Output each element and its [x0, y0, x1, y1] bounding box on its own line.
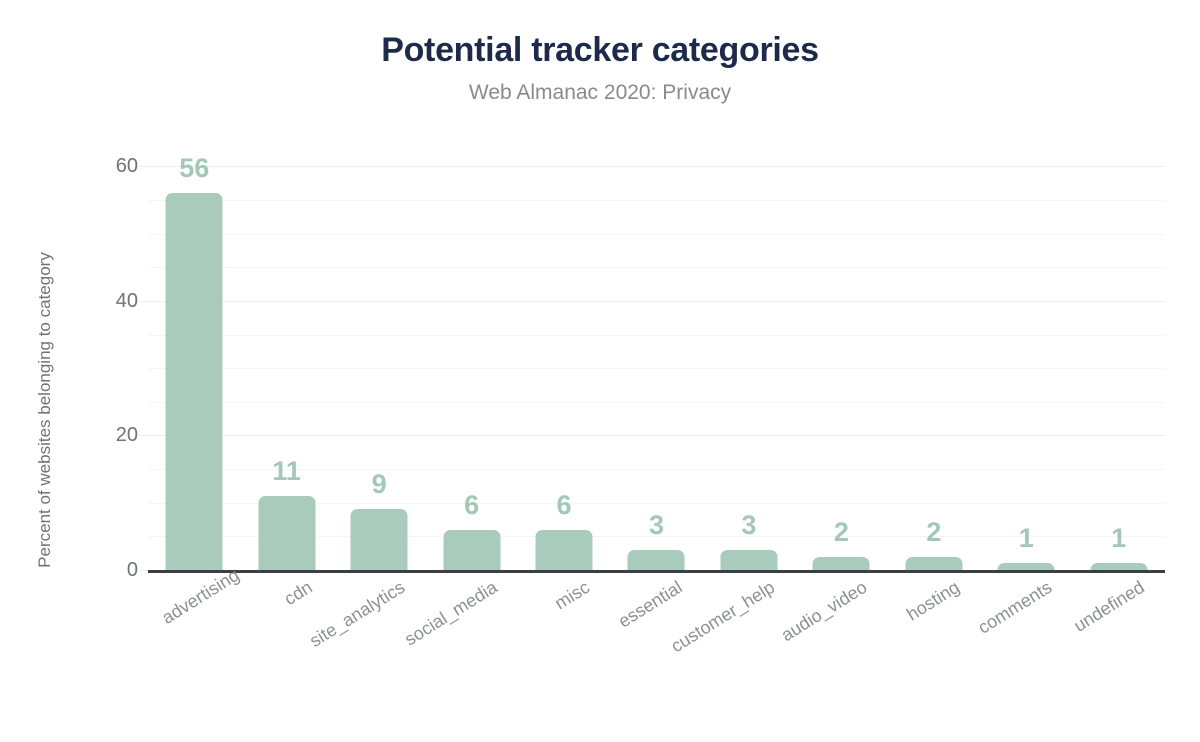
x-axis-line: [148, 570, 1165, 573]
y-axis-tick-label: 60: [78, 156, 138, 176]
y-axis-title: Percent of websites belonging to categor…: [30, 180, 60, 640]
y-axis-tick-mark: [138, 166, 148, 167]
bar-slot: 9: [333, 153, 425, 570]
bar-value-label: 9: [372, 469, 387, 499]
bar-value-label: 3: [649, 510, 664, 540]
bar[interactable]: [443, 530, 500, 570]
bar[interactable]: [1090, 563, 1147, 570]
bar[interactable]: [258, 496, 315, 570]
bar-slot: 2: [795, 153, 887, 570]
bar-slot: 6: [425, 153, 517, 570]
bar-value-label: 6: [557, 490, 572, 520]
x-axis-tick-label: customer_help: [242, 576, 779, 742]
bar-value-label: 56: [179, 153, 209, 183]
bar-slot: 1: [980, 153, 1072, 570]
bar-value-label: 11: [272, 456, 301, 486]
y-axis-tick-label: 40: [78, 291, 138, 311]
bar-slot: 2: [888, 153, 980, 570]
bar-value-label: 1: [1019, 523, 1034, 553]
bar-value-label: 6: [464, 490, 479, 520]
bar[interactable]: [905, 557, 962, 570]
y-axis-tick-mark: [138, 301, 148, 302]
bar-slot: 3: [610, 153, 702, 570]
chart-header: Potential tracker categories Web Almanac…: [0, 28, 1200, 108]
x-axis-tick-label: advertising: [158, 576, 224, 629]
y-axis-tick-mark: [138, 435, 148, 436]
bar[interactable]: [166, 193, 223, 570]
bar-slot: 56: [148, 153, 240, 570]
y-axis-title-text: Percent of websites belonging to categor…: [35, 252, 55, 568]
bar-value-label: 2: [834, 517, 849, 547]
bar-value-label: 1: [1111, 523, 1126, 553]
bar-slot: 11: [240, 153, 332, 570]
plot-area: 5611966332211: [148, 153, 1165, 570]
bar-value-label: 2: [926, 517, 941, 547]
bar[interactable]: [536, 530, 593, 570]
chart-title: Potential tracker categories: [0, 28, 1200, 72]
bar-slot: 6: [518, 153, 610, 570]
bars-layer: 5611966332211: [148, 153, 1165, 570]
bar[interactable]: [351, 509, 408, 570]
y-axis-tick-label: 0: [78, 560, 138, 580]
bar[interactable]: [813, 557, 870, 570]
chart-container: Potential tracker categories Web Almanac…: [0, 0, 1200, 742]
bar[interactable]: [628, 550, 685, 570]
x-axis-tick-labels: advertisingcdnsite_analyticssocial_media…: [148, 576, 1165, 716]
bar-slot: 3: [703, 153, 795, 570]
bar-value-label: 3: [741, 510, 756, 540]
bar-slot: 1: [1073, 153, 1165, 570]
bar[interactable]: [720, 550, 777, 570]
bar[interactable]: [998, 563, 1055, 570]
chart-subtitle: Web Almanac 2020: Privacy: [0, 78, 1200, 108]
y-axis-tick-mark: [138, 570, 148, 571]
y-axis-tick-label: 20: [78, 425, 138, 445]
